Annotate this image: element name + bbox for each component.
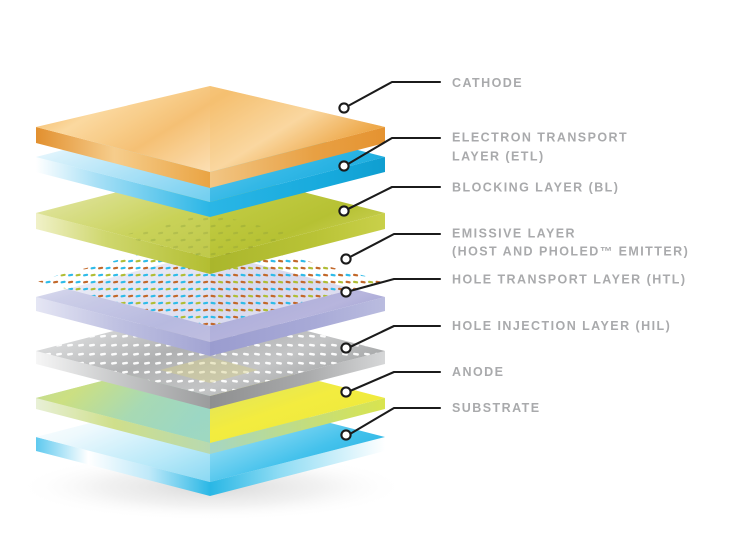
leader-dot-cathode — [339, 103, 348, 112]
label-etl-line2: LAYER (ETL) — [452, 149, 545, 163]
label-emissive-line1: EMISSIVE LAYER — [452, 226, 576, 240]
oled-layer-diagram: CATHODE ELECTRON TRANSPORT LAYER (ETL) B… — [0, 0, 739, 545]
leader-dot-emissive — [341, 254, 350, 263]
diagram-canvas: CATHODE ELECTRON TRANSPORT LAYER (ETL) B… — [0, 0, 739, 545]
callout-hil: HOLE INJECTION LAYER (HIL) — [341, 319, 671, 353]
label-substrate: SUBSTRATE — [452, 401, 541, 415]
label-emissive-line2: (HOST AND PHOLED™ EMITTER) — [452, 244, 689, 258]
leader-line-anode — [350, 372, 440, 391]
label-hil: HOLE INJECTION LAYER (HIL) — [452, 319, 671, 333]
leader-line-cathode — [348, 82, 440, 106]
leader-line-hil — [350, 326, 440, 347]
leader-line-emissive — [350, 234, 440, 257]
callout-htl: HOLE TRANSPORT LAYER (HTL) — [341, 272, 686, 296]
leader-line-bl — [348, 187, 440, 209]
leader-dot-etl — [339, 161, 348, 170]
leader-dot-bl — [339, 206, 348, 215]
label-etl-line1: ELECTRON TRANSPORT — [452, 130, 628, 144]
callout-anode: ANODE — [341, 365, 504, 397]
leader-dot-anode — [341, 387, 350, 396]
label-cathode: CATHODE — [452, 76, 523, 90]
callout-emissive: EMISSIVE LAYER (HOST AND PHOLED™ EMITTER… — [341, 226, 689, 263]
leader-dot-substrate — [341, 430, 350, 439]
leader-dot-htl — [341, 287, 350, 296]
callout-bl: BLOCKING LAYER (BL) — [339, 180, 619, 215]
label-htl: HOLE TRANSPORT LAYER (HTL) — [452, 272, 686, 286]
label-anode: ANODE — [452, 365, 504, 379]
callout-cathode: CATHODE — [339, 76, 523, 113]
label-bl: BLOCKING LAYER (BL) — [452, 180, 619, 194]
leader-dot-hil — [341, 343, 350, 352]
